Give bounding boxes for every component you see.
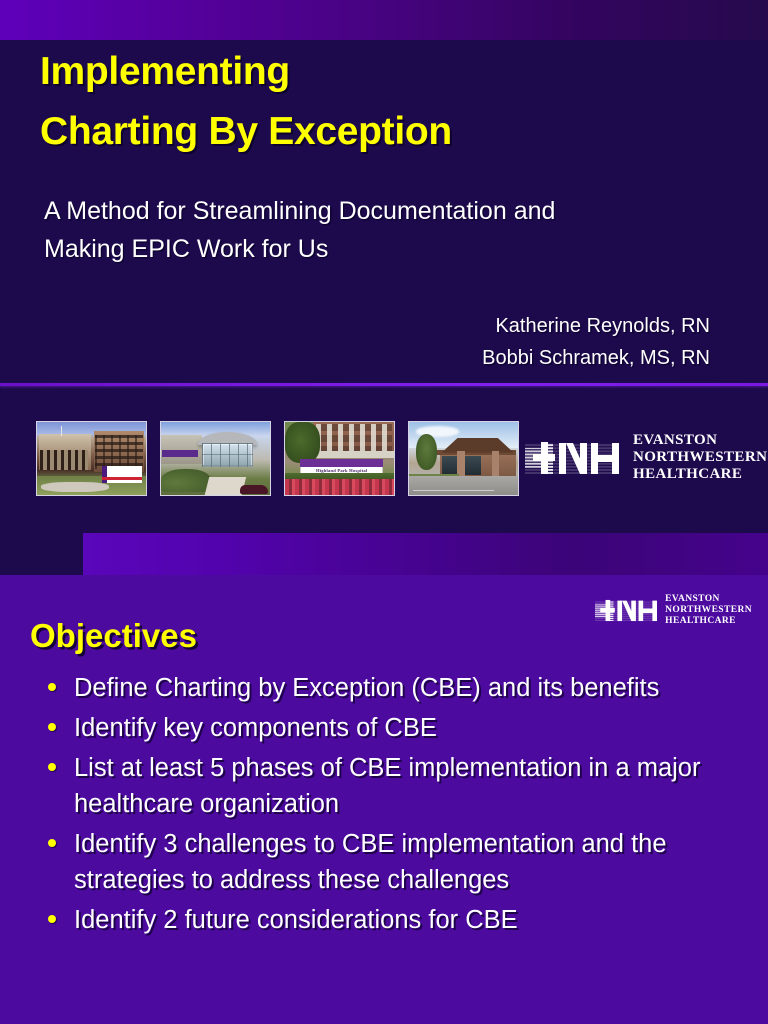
slide-deck-page: Implementing Charting By Exception A Met… (0, 0, 768, 1024)
list-item: Identify key components of CBE (38, 710, 764, 746)
flower-bed (285, 479, 394, 495)
list-item-text: Identify 2 future considerations for CBE (74, 906, 518, 934)
hospital-photo-medical-group (408, 421, 519, 496)
hospital-photo-glenbrook (160, 421, 271, 496)
bullet-dot-icon (48, 915, 56, 923)
enh-wordmark: EVANSTON NORTHWESTERN HEALTHCARE (665, 594, 752, 627)
tree (285, 422, 320, 463)
driveway (41, 482, 109, 492)
list-item-text: Define Charting by Exception (CBE) and i… (74, 674, 659, 702)
parking-stripe (413, 490, 494, 491)
bullet-dot-icon (48, 839, 56, 847)
list-item-text: Identify 3 challenges to CBE implementat… (74, 830, 667, 894)
entrance-sign (102, 466, 141, 484)
purple-sign-band (162, 450, 198, 457)
list-item: Identify 3 challenges to CBE implementat… (38, 826, 764, 898)
enh-monogram-icon (595, 597, 657, 624)
slide-top-gradient-band (0, 0, 768, 40)
list-item-text: Identify key components of CBE (74, 714, 437, 742)
colonnade (40, 450, 88, 470)
column-right (492, 451, 500, 479)
hospital-photo-strip: Highland Park Hospital (36, 421, 519, 496)
slide-bottom-gradient-bar (83, 533, 768, 575)
horizontal-divider (0, 383, 768, 386)
hospital-photo-evanston (36, 421, 147, 496)
sign-red-stripe (102, 477, 141, 481)
list-item: Define Charting by Exception (CBE) and i… (38, 670, 764, 706)
sign-purple-band (300, 459, 383, 467)
slide-subtitle: A Method for Streamlining Documentation … (44, 192, 724, 268)
list-item: List at least 5 phases of CBE implementa… (38, 750, 764, 822)
flagpole (61, 426, 62, 435)
list-item-text: List at least 5 phases of CBE implementa… (74, 754, 700, 818)
enh-logo: EVANSTON NORTHWESTERN HEALTHCARE (525, 432, 767, 483)
enh-monogram-icon (525, 438, 619, 478)
bullet-dot-icon (48, 723, 56, 731)
title-slide: Implementing Charting By Exception A Met… (0, 0, 768, 575)
enh-wordmark: EVANSTON NORTHWESTERN HEALTHCARE (633, 432, 767, 483)
hospital-photo-highland-park: Highland Park Hospital (284, 421, 395, 496)
bullet-dot-icon (48, 683, 56, 691)
author-name-1: Katherine Reynolds, RN (70, 310, 710, 342)
window-grid (95, 435, 143, 469)
list-item: Identify 2 future considerations for CBE (38, 902, 764, 938)
page-title: Implementing Charting By Exception (40, 42, 740, 162)
parking-lot (409, 476, 518, 495)
slide-heading-objectives: Objectives (30, 617, 197, 655)
tree (416, 434, 438, 471)
window-mullions (202, 443, 252, 467)
shrubbery (161, 469, 211, 492)
window-grid (316, 424, 392, 453)
author-list: Katherine Reynolds, RN Bobbi Schramek, M… (70, 310, 710, 374)
objectives-bullet-list: Define Charting by Exception (CBE) and i… (38, 670, 764, 942)
author-name-2: Bobbi Schramek, MS, RN (70, 342, 710, 374)
objectives-slide: EVANSTON NORTHWESTERN HEALTHCARE Objecti… (0, 575, 768, 1024)
bullet-dot-icon (48, 763, 56, 771)
entrance-canopy (311, 451, 394, 458)
enh-logo: EVANSTON NORTHWESTERN HEALTHCARE (595, 594, 752, 627)
parked-car (240, 485, 268, 494)
